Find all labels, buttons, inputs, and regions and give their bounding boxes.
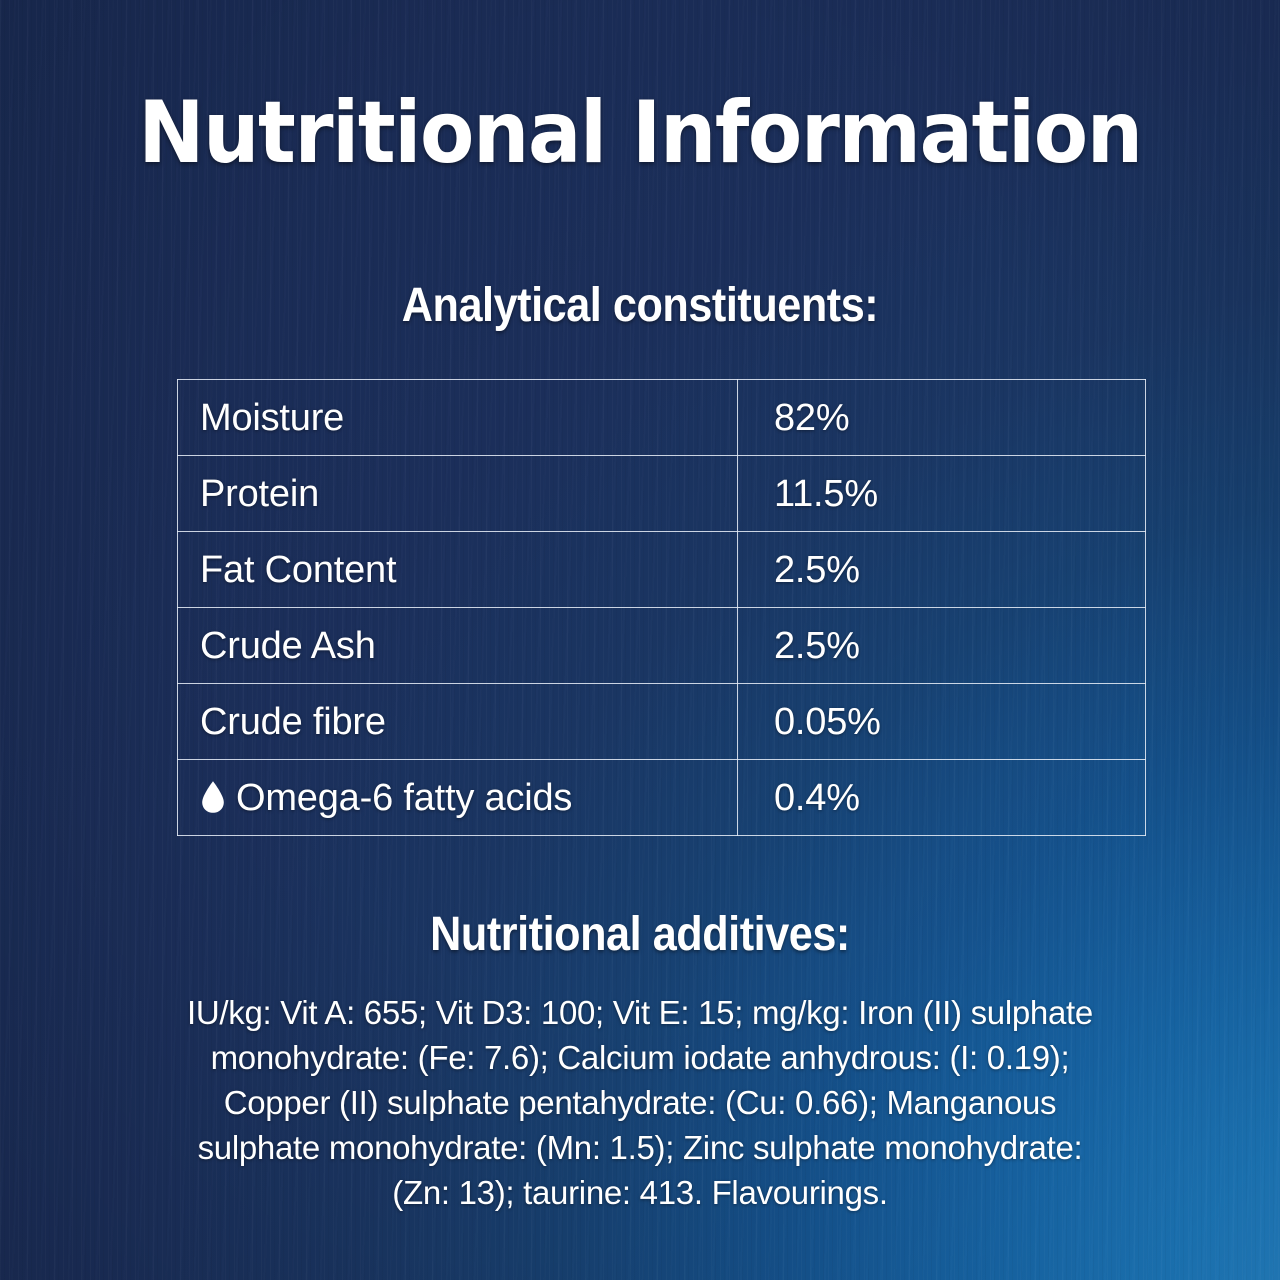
additives-line: IU/kg: Vit A: 655; Vit D3: 100; Vit E: 1… xyxy=(90,990,1190,1035)
table-row: Crude Ash 2.5% xyxy=(178,608,1146,684)
constituent-label: Omega-6 fatty acids xyxy=(236,776,572,820)
analytical-constituents-table: Moisture 82% Protein 11.5% xyxy=(177,379,1146,836)
table-row: Crude fibre 0.05% xyxy=(178,684,1146,760)
table-cell-name: Fat Content xyxy=(178,532,738,608)
table-cell-name: Omega-6 fatty acids xyxy=(178,760,738,836)
table-cell-name: Protein xyxy=(178,456,738,532)
constituent-label: Protein xyxy=(200,472,319,516)
table-body: Moisture 82% Protein 11.5% xyxy=(178,380,1146,836)
additives-line: (Zn: 13); taurine: 413. Flavourings. xyxy=(90,1170,1190,1215)
table-cell-value: 11.5% xyxy=(738,456,1146,532)
page-title: Nutritional Information xyxy=(51,86,1229,180)
nutritional-additives-text: IU/kg: Vit A: 655; Vit D3: 100; Vit E: 1… xyxy=(90,990,1190,1215)
table-cell-name: Crude Ash xyxy=(178,608,738,684)
nutritional-information-panel: Nutritional Information Analytical const… xyxy=(0,0,1280,1280)
table-cell-value: 0.4% xyxy=(738,760,1146,836)
table-row: Fat Content 2.5% xyxy=(178,532,1146,608)
constituent-label: Moisture xyxy=(200,396,344,440)
table-cell-name: Moisture xyxy=(178,380,738,456)
table-cell-name: Crude fibre xyxy=(178,684,738,760)
table-row: Protein 11.5% xyxy=(178,456,1146,532)
table-cell-value: 2.5% xyxy=(738,608,1146,684)
water-drop-icon xyxy=(200,780,226,814)
constituent-label: Crude Ash xyxy=(200,624,376,668)
table-cell-value: 2.5% xyxy=(738,532,1146,608)
analytical-constituents-heading: Analytical constituents: xyxy=(64,278,1216,334)
constituent-label: Fat Content xyxy=(200,548,396,592)
table-cell-value: 82% xyxy=(738,380,1146,456)
nutritional-additives-heading: Nutritional additives: xyxy=(64,907,1216,963)
table-cell-value: 0.05% xyxy=(738,684,1146,760)
additives-line: sulphate monohydrate: (Mn: 1.5); Zinc su… xyxy=(90,1125,1190,1170)
table-row: Moisture 82% xyxy=(178,380,1146,456)
additives-line: Copper (II) sulphate pentahydrate: (Cu: … xyxy=(90,1080,1190,1125)
table-row: Omega-6 fatty acids 0.4% xyxy=(178,760,1146,836)
constituent-label: Crude fibre xyxy=(200,700,386,744)
additives-line: monohydrate: (Fe: 7.6); Calcium iodate a… xyxy=(90,1035,1190,1080)
